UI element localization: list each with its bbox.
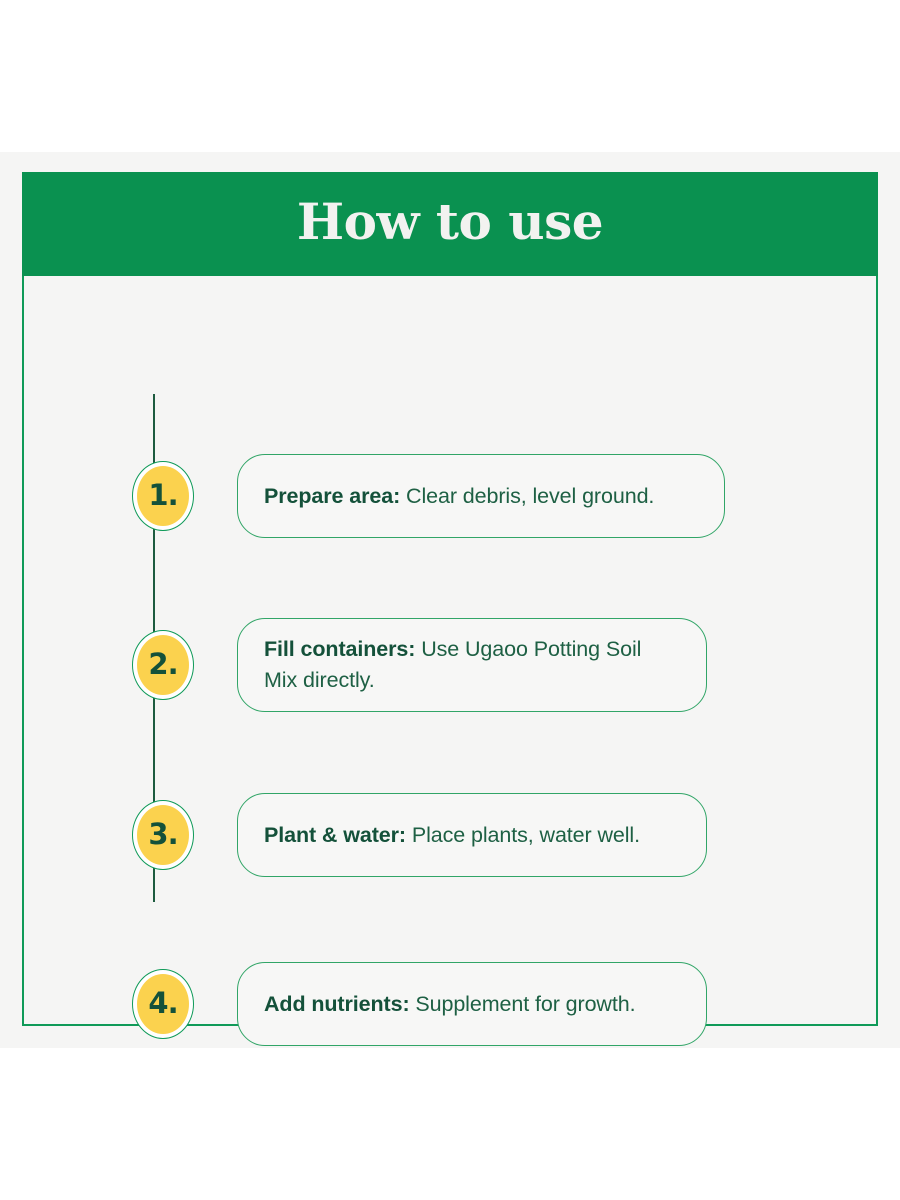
step-number-label: 4. bbox=[148, 989, 177, 1020]
step-number-label: 2. bbox=[148, 650, 177, 681]
step-text: Prepare area: Clear debris, level ground… bbox=[264, 481, 654, 512]
step-text: Fill containers: Use Ugaoo Potting Soil … bbox=[264, 634, 680, 695]
step-item: 3. Plant & water: Place plants, water we… bbox=[24, 790, 876, 880]
step-item: 2. Fill containers: Use Ugaoo Potting So… bbox=[24, 620, 876, 710]
page-title: How to use bbox=[297, 197, 603, 251]
step-text-pill: Fill containers: Use Ugaoo Potting Soil … bbox=[237, 618, 707, 712]
step-label: Fill containers: bbox=[264, 637, 415, 661]
step-text-pill: Add nutrients: Supplement for growth. bbox=[237, 962, 707, 1046]
badge-disc: 2. bbox=[137, 635, 189, 695]
step-body: Supplement for growth. bbox=[410, 992, 636, 1016]
step-item: 1. Prepare area: Clear debris, level gro… bbox=[24, 451, 876, 541]
step-body: Clear debris, level ground. bbox=[400, 484, 654, 508]
step-item: 4. Add nutrients: Supplement for growth. bbox=[24, 959, 876, 1049]
step-number-badge: 3. bbox=[132, 800, 194, 870]
badge-disc: 4. bbox=[137, 974, 189, 1034]
step-number-badge: 2. bbox=[132, 630, 194, 700]
step-text: Plant & water: Place plants, water well. bbox=[264, 820, 640, 851]
step-number-label: 1. bbox=[148, 481, 177, 512]
step-text: Add nutrients: Supplement for growth. bbox=[264, 989, 635, 1020]
page-root: How to use 1. Prepare area: Clear debris… bbox=[0, 0, 900, 1200]
badge-disc: 1. bbox=[137, 466, 189, 526]
card-header: How to use bbox=[22, 172, 878, 276]
step-label: Plant & water: bbox=[264, 823, 406, 847]
step-body: Place plants, water well. bbox=[406, 823, 640, 847]
how-to-use-card: How to use 1. Prepare area: Clear debris… bbox=[22, 172, 878, 1026]
step-number-badge: 4. bbox=[132, 969, 194, 1039]
step-text-pill: Plant & water: Place plants, water well. bbox=[237, 793, 707, 877]
step-number-label: 3. bbox=[148, 820, 177, 851]
step-number-badge: 1. bbox=[132, 461, 194, 531]
step-text-pill: Prepare area: Clear debris, level ground… bbox=[237, 454, 725, 538]
badge-disc: 3. bbox=[137, 805, 189, 865]
step-label: Prepare area: bbox=[264, 484, 400, 508]
steps-list: 1. Prepare area: Clear debris, level gro… bbox=[24, 276, 876, 1024]
step-label: Add nutrients: bbox=[264, 992, 410, 1016]
